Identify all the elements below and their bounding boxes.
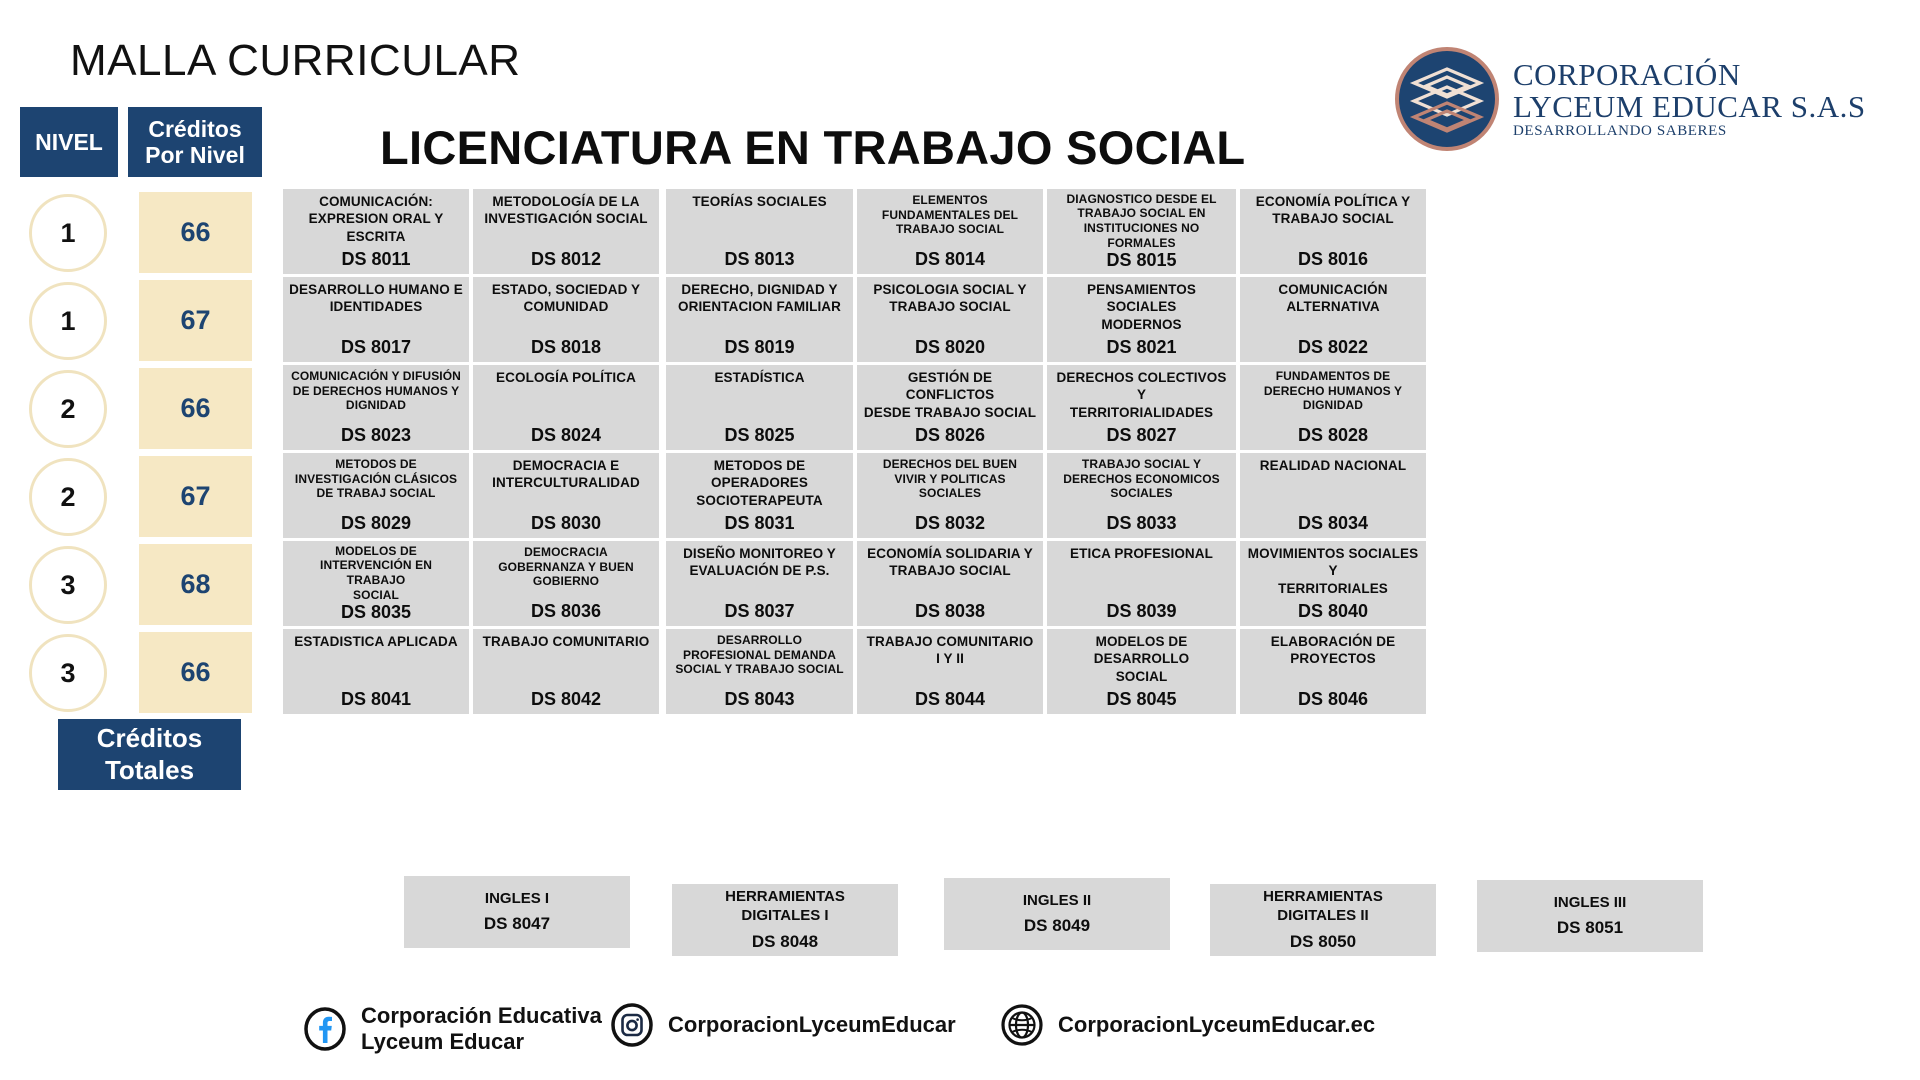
course-code: DS 8015 bbox=[1053, 250, 1230, 271]
course-name: DIAGNOSTICO DESDE ELTRABAJO SOCIAL ENINS… bbox=[1053, 192, 1230, 251]
totales-line-1: Créditos bbox=[97, 723, 202, 754]
course-card[interactable]: DERECHO, DIGNIDAD YORIENTACION FAMILIARD… bbox=[666, 277, 853, 362]
course-code: DS 8042 bbox=[479, 689, 653, 710]
course-name: ESTADO, SOCIEDAD YCOMUNIDAD bbox=[479, 281, 653, 316]
elective-code: DS 8048 bbox=[752, 932, 818, 952]
course-cards: DESARROLLO HUMANO EIDENTIDADESDS 8017EST… bbox=[283, 277, 1920, 362]
creditos-header-line-1: Créditos bbox=[145, 116, 245, 142]
course-code: DS 8046 bbox=[1246, 689, 1420, 710]
creditos-header-line-2: Por Nivel bbox=[145, 142, 245, 168]
program-title: LICENCIATURA EN TRABAJO SOCIAL bbox=[380, 120, 1245, 175]
course-code: DS 8035 bbox=[289, 602, 463, 623]
course-code: DS 8028 bbox=[1246, 425, 1420, 446]
course-code: DS 8040 bbox=[1246, 601, 1420, 622]
course-cards: ESTADISTICA APLICADADS 8041TRABAJO COMUN… bbox=[283, 629, 1920, 714]
facebook-icon bbox=[303, 1007, 347, 1051]
globe-icon bbox=[1000, 1003, 1044, 1047]
course-card[interactable]: METODOLOGÍA DE LAINVESTIGACIÓN SOCIALDS … bbox=[473, 189, 659, 274]
nivel-circle: 3 bbox=[29, 634, 107, 712]
course-cards: COMUNICACIÓN Y DIFUSIÓNDE DERECHOS HUMAN… bbox=[283, 365, 1920, 450]
course-card[interactable]: FUNDAMENTOS DEDERECHO HUMANOS YDIGNIDADD… bbox=[1240, 365, 1426, 450]
course-card[interactable]: ECOLOGÍA POLÍTICADS 8024 bbox=[473, 365, 659, 450]
elective-name: INGLES III bbox=[1554, 894, 1627, 913]
elective-code: DS 8049 bbox=[1024, 916, 1090, 936]
course-name: COMUNICACIÓN:EXPRESION ORAL Y ESCRITA bbox=[289, 193, 463, 245]
course-card[interactable]: COMUNICACIÓN Y DIFUSIÓNDE DERECHOS HUMAN… bbox=[283, 365, 469, 450]
curriculum-row: 368MODELOS DEINTERVENCIÓN EN TRABAJOSOCI… bbox=[0, 541, 1920, 628]
elective-name: INGLES II bbox=[1023, 892, 1091, 911]
course-code: DS 8011 bbox=[289, 249, 463, 270]
course-code: DS 8012 bbox=[479, 249, 653, 270]
course-card[interactable]: ESTADO, SOCIEDAD YCOMUNIDADDS 8018 bbox=[473, 277, 659, 362]
logo-tagline: DESARROLLANDO SABERES bbox=[1513, 124, 1866, 139]
course-card[interactable]: DESARROLLOPROFESIONAL DEMANDASOCIAL Y TR… bbox=[666, 629, 853, 714]
course-name: DERECHO, DIGNIDAD YORIENTACION FAMILIAR bbox=[672, 281, 847, 316]
course-name: TRABAJO SOCIAL YDERECHOS ECONOMICOSSOCIA… bbox=[1053, 457, 1230, 501]
curriculum-rows: 166COMUNICACIÓN:EXPRESION ORAL Y ESCRITA… bbox=[0, 189, 1920, 717]
course-code: DS 8023 bbox=[289, 425, 463, 446]
course-card[interactable]: TEORÍAS SOCIALESDS 8013 bbox=[666, 189, 853, 274]
instagram-icon bbox=[610, 1003, 654, 1047]
course-name: COMUNICACIÓN Y DIFUSIÓNDE DERECHOS HUMAN… bbox=[289, 369, 463, 413]
course-code: DS 8039 bbox=[1053, 601, 1230, 622]
totales-line-2: Totales bbox=[105, 755, 194, 786]
elective-code: DS 8047 bbox=[484, 914, 550, 934]
course-code: DS 8027 bbox=[1053, 425, 1230, 446]
course-card[interactable]: METODOS DEINVESTIGACIÓN CLÁSICOSDE TRABA… bbox=[283, 453, 469, 538]
course-code: DS 8032 bbox=[863, 513, 1037, 534]
course-code: DS 8033 bbox=[1053, 513, 1230, 534]
facebook-contact[interactable]: Corporación Educativa Lyceum Educar bbox=[303, 1003, 602, 1056]
course-cards: MODELOS DEINTERVENCIÓN EN TRABAJOSOCIALD… bbox=[283, 541, 1920, 626]
course-code: DS 8021 bbox=[1053, 337, 1230, 358]
course-name: PSICOLOGIA SOCIAL YTRABAJO SOCIAL bbox=[863, 281, 1037, 316]
course-card[interactable]: MODELOS DEINTERVENCIÓN EN TRABAJOSOCIALD… bbox=[283, 541, 469, 626]
course-name: FUNDAMENTOS DEDERECHO HUMANOS YDIGNIDAD bbox=[1246, 369, 1420, 413]
course-card[interactable]: ETICA PROFESIONALDS 8039 bbox=[1047, 541, 1236, 626]
course-name: MOVIMIENTOS SOCIALES YTERRITORIALES bbox=[1246, 545, 1420, 597]
course-name: PENSAMIENTOS SOCIALESMODERNOS bbox=[1053, 281, 1230, 333]
course-card[interactable]: TRABAJO COMUNITARIODS 8042 bbox=[473, 629, 659, 714]
credits-per-level: 66 bbox=[139, 632, 252, 713]
course-cards: COMUNICACIÓN:EXPRESION ORAL Y ESCRITADS … bbox=[283, 189, 1920, 274]
course-name: DEMOCRACIA EINTERCULTURALIDAD bbox=[479, 457, 653, 492]
company-logo: CORPORACIÓN LYCEUM EDUCAR S.A.S DESARROL… bbox=[1395, 47, 1866, 151]
course-name: ECONOMÍA SOLIDARIA YTRABAJO SOCIAL bbox=[863, 545, 1037, 580]
course-card[interactable]: ELEMENTOSFUNDAMENTALES DELTRABAJO SOCIAL… bbox=[857, 189, 1043, 274]
nivel-circle: 1 bbox=[29, 282, 107, 360]
course-card[interactable]: REALIDAD NACIONALDS 8034 bbox=[1240, 453, 1426, 538]
course-code: DS 8030 bbox=[479, 513, 653, 534]
footer: Corporación Educativa Lyceum Educar Corp… bbox=[0, 995, 1920, 1065]
course-code: DS 8014 bbox=[863, 249, 1037, 270]
course-card[interactable]: PENSAMIENTOS SOCIALESMODERNOSDS 8021 bbox=[1047, 277, 1236, 362]
elective-card[interactable]: HERRAMIENTASDIGITALES IIDS 8050 bbox=[1210, 884, 1436, 956]
elective-card[interactable]: INGLES IIDS 8049 bbox=[944, 878, 1170, 950]
course-name: TEORÍAS SOCIALES bbox=[672, 193, 847, 210]
creditos-por-nivel-header: Créditos Por Nivel bbox=[128, 107, 262, 177]
course-card[interactable]: ESTADISTICA APLICADADS 8041 bbox=[283, 629, 469, 714]
course-card[interactable]: DEMOCRACIA EINTERCULTURALIDADDS 8030 bbox=[473, 453, 659, 538]
course-name: TRABAJO COMUNITARIO bbox=[479, 633, 653, 650]
course-code: DS 8026 bbox=[863, 425, 1037, 446]
instagram-contact[interactable]: CorporacionLyceumEducar bbox=[610, 1003, 956, 1047]
credits-per-level: 66 bbox=[139, 368, 252, 449]
course-name: DISEÑO MONITOREO YEVALUACIÓN DE P.S. bbox=[672, 545, 847, 580]
logo-badge-icon bbox=[1395, 47, 1499, 151]
course-code: DS 8018 bbox=[479, 337, 653, 358]
course-card[interactable]: COMUNICACIÓN:EXPRESION ORAL Y ESCRITADS … bbox=[283, 189, 469, 274]
course-card[interactable]: MODELOS DE DESARROLLOSOCIALDS 8045 bbox=[1047, 629, 1236, 714]
course-code: DS 8041 bbox=[289, 689, 463, 710]
course-name: ECOLOGÍA POLÍTICA bbox=[479, 369, 653, 386]
course-card[interactable]: DISEÑO MONITOREO YEVALUACIÓN DE P.S.DS 8… bbox=[666, 541, 853, 626]
course-name: ELEMENTOSFUNDAMENTALES DELTRABAJO SOCIAL bbox=[863, 193, 1037, 237]
website-contact[interactable]: CorporacionLyceumEducar.ec bbox=[1000, 1003, 1375, 1047]
course-code: DS 8045 bbox=[1053, 689, 1230, 710]
course-code: DS 8031 bbox=[672, 513, 847, 534]
course-name: DERECHOS COLECTIVOS YTERRITORIALIDADES bbox=[1053, 369, 1230, 421]
credits-per-level: 67 bbox=[139, 280, 252, 361]
course-card[interactable]: DEMOCRACIAGOBERNANZA Y BUENGOBIERNODS 80… bbox=[473, 541, 659, 626]
course-name: ELABORACIÓN DEPROYECTOS bbox=[1246, 633, 1420, 668]
course-card[interactable]: DESARROLLO HUMANO EIDENTIDADESDS 8017 bbox=[283, 277, 469, 362]
website-label: CorporacionLyceumEducar.ec bbox=[1058, 1012, 1375, 1038]
course-card[interactable]: GESTIÓN DE CONFLICTOSDESDE TRABAJO SOCIA… bbox=[857, 365, 1043, 450]
course-name: METODOS DE OPERADORESSOCIOTERAPEUTA bbox=[672, 457, 847, 509]
course-name: DEMOCRACIAGOBERNANZA Y BUENGOBIERNO bbox=[479, 545, 653, 589]
course-card[interactable]: DERECHOS COLECTIVOS YTERRITORIALIDADESDS… bbox=[1047, 365, 1236, 450]
logo-line-1: CORPORACIÓN bbox=[1513, 59, 1866, 90]
elective-code: DS 8051 bbox=[1557, 918, 1623, 938]
elective-card[interactable]: INGLES IDS 8047 bbox=[404, 876, 630, 948]
course-card[interactable]: TRABAJO SOCIAL YDERECHOS ECONOMICOSSOCIA… bbox=[1047, 453, 1236, 538]
course-name: METODOS DEINVESTIGACIÓN CLÁSICOSDE TRABA… bbox=[289, 457, 463, 501]
course-cards: METODOS DEINVESTIGACIÓN CLÁSICOSDE TRABA… bbox=[283, 453, 1920, 538]
course-name: TRABAJO COMUNITARIOI Y II bbox=[863, 633, 1037, 668]
curriculum-row: 166COMUNICACIÓN:EXPRESION ORAL Y ESCRITA… bbox=[0, 189, 1920, 276]
course-name: METODOLOGÍA DE LAINVESTIGACIÓN SOCIAL bbox=[479, 193, 653, 228]
course-name: MODELOS DEINTERVENCIÓN EN TRABAJOSOCIAL bbox=[289, 544, 463, 603]
course-code: DS 8020 bbox=[863, 337, 1037, 358]
course-code: DS 8013 bbox=[672, 249, 847, 270]
nivel-circle: 2 bbox=[29, 370, 107, 448]
course-code: DS 8017 bbox=[289, 337, 463, 358]
course-code: DS 8034 bbox=[1246, 513, 1420, 534]
nivel-header: NIVEL bbox=[20, 107, 118, 177]
course-name: ETICA PROFESIONAL bbox=[1053, 545, 1230, 562]
course-card[interactable]: ECONOMÍA SOLIDARIA YTRABAJO SOCIALDS 803… bbox=[857, 541, 1043, 626]
logo-text: CORPORACIÓN LYCEUM EDUCAR S.A.S DESARROL… bbox=[1513, 59, 1866, 139]
course-name: GESTIÓN DE CONFLICTOSDESDE TRABAJO SOCIA… bbox=[863, 369, 1037, 421]
curriculum-row: 266COMUNICACIÓN Y DIFUSIÓNDE DERECHOS HU… bbox=[0, 365, 1920, 452]
course-name: ESTADÍSTICA bbox=[672, 369, 847, 386]
logo-line-2: LYCEUM EDUCAR S.A.S bbox=[1513, 91, 1866, 122]
course-code: DS 8024 bbox=[479, 425, 653, 446]
course-code: DS 8016 bbox=[1246, 249, 1420, 270]
course-code: DS 8036 bbox=[479, 601, 653, 622]
course-code: DS 8038 bbox=[863, 601, 1037, 622]
course-card[interactable]: ELABORACIÓN DEPROYECTOSDS 8046 bbox=[1240, 629, 1426, 714]
curriculum-row: 267METODOS DEINVESTIGACIÓN CLÁSICOSDE TR… bbox=[0, 453, 1920, 540]
course-name: DERECHOS DEL BUENVIVIR Y POLITICASSOCIAL… bbox=[863, 457, 1037, 501]
facebook-label: Corporación Educativa Lyceum Educar bbox=[361, 1003, 602, 1056]
credits-per-level: 68 bbox=[139, 544, 252, 625]
elective-name: HERRAMIENTASDIGITALES I bbox=[725, 888, 845, 926]
course-card[interactable]: DERECHOS DEL BUENVIVIR Y POLITICASSOCIAL… bbox=[857, 453, 1043, 538]
course-code: DS 8025 bbox=[672, 425, 847, 446]
course-code: DS 8022 bbox=[1246, 337, 1420, 358]
course-name: REALIDAD NACIONAL bbox=[1246, 457, 1420, 474]
course-card[interactable]: ECONOMÍA POLÍTICA YTRABAJO SOCIALDS 8016 bbox=[1240, 189, 1426, 274]
curriculum-row: 167DESARROLLO HUMANO EIDENTIDADESDS 8017… bbox=[0, 277, 1920, 364]
course-card[interactable]: ESTADÍSTICADS 8025 bbox=[666, 365, 853, 450]
credits-per-level: 67 bbox=[139, 456, 252, 537]
course-code: DS 8019 bbox=[672, 337, 847, 358]
elective-code: DS 8050 bbox=[1290, 932, 1356, 952]
course-code: DS 8044 bbox=[863, 689, 1037, 710]
course-code: DS 8029 bbox=[289, 513, 463, 534]
page-title: MALLA CURRICULAR bbox=[70, 36, 521, 86]
course-card[interactable]: COMUNICACIÓNALTERNATIVADS 8022 bbox=[1240, 277, 1426, 362]
nivel-circle: 2 bbox=[29, 458, 107, 536]
course-name: MODELOS DE DESARROLLOSOCIAL bbox=[1053, 633, 1230, 685]
elective-name: HERRAMIENTASDIGITALES II bbox=[1263, 888, 1383, 926]
nivel-circle: 1 bbox=[29, 194, 107, 272]
elective-card[interactable]: HERRAMIENTASDIGITALES IDS 8048 bbox=[672, 884, 898, 956]
course-code: DS 8037 bbox=[672, 601, 847, 622]
creditos-totales-box: Créditos Totales bbox=[58, 719, 241, 790]
course-card[interactable]: METODOS DE OPERADORESSOCIOTERAPEUTADS 80… bbox=[666, 453, 853, 538]
course-card[interactable]: PSICOLOGIA SOCIAL YTRABAJO SOCIALDS 8020 bbox=[857, 277, 1043, 362]
elective-name: INGLES I bbox=[485, 890, 549, 909]
stacked-layers-icon bbox=[1408, 63, 1486, 135]
course-name: ECONOMÍA POLÍTICA YTRABAJO SOCIAL bbox=[1246, 193, 1420, 228]
instagram-label: CorporacionLyceumEducar bbox=[668, 1012, 956, 1038]
curriculum-row: 366ESTADISTICA APLICADADS 8041TRABAJO CO… bbox=[0, 629, 1920, 716]
curriculum-page: MALLA CURRICULAR LICENCIATURA EN TRABAJO… bbox=[0, 0, 1920, 1080]
course-card[interactable]: MOVIMIENTOS SOCIALES YTERRITORIALESDS 80… bbox=[1240, 541, 1426, 626]
elective-card[interactable]: INGLES IIIDS 8051 bbox=[1477, 880, 1703, 952]
course-code: DS 8043 bbox=[672, 689, 847, 710]
nivel-circle: 3 bbox=[29, 546, 107, 624]
course-name: DESARROLLOPROFESIONAL DEMANDASOCIAL Y TR… bbox=[672, 633, 847, 677]
course-name: DESARROLLO HUMANO EIDENTIDADES bbox=[289, 281, 463, 316]
course-card[interactable]: TRABAJO COMUNITARIOI Y IIDS 8044 bbox=[857, 629, 1043, 714]
credits-per-level: 66 bbox=[139, 192, 252, 273]
course-name: COMUNICACIÓNALTERNATIVA bbox=[1246, 281, 1420, 316]
course-card[interactable]: DIAGNOSTICO DESDE ELTRABAJO SOCIAL ENINS… bbox=[1047, 189, 1236, 274]
course-name: ESTADISTICA APLICADA bbox=[289, 633, 463, 650]
